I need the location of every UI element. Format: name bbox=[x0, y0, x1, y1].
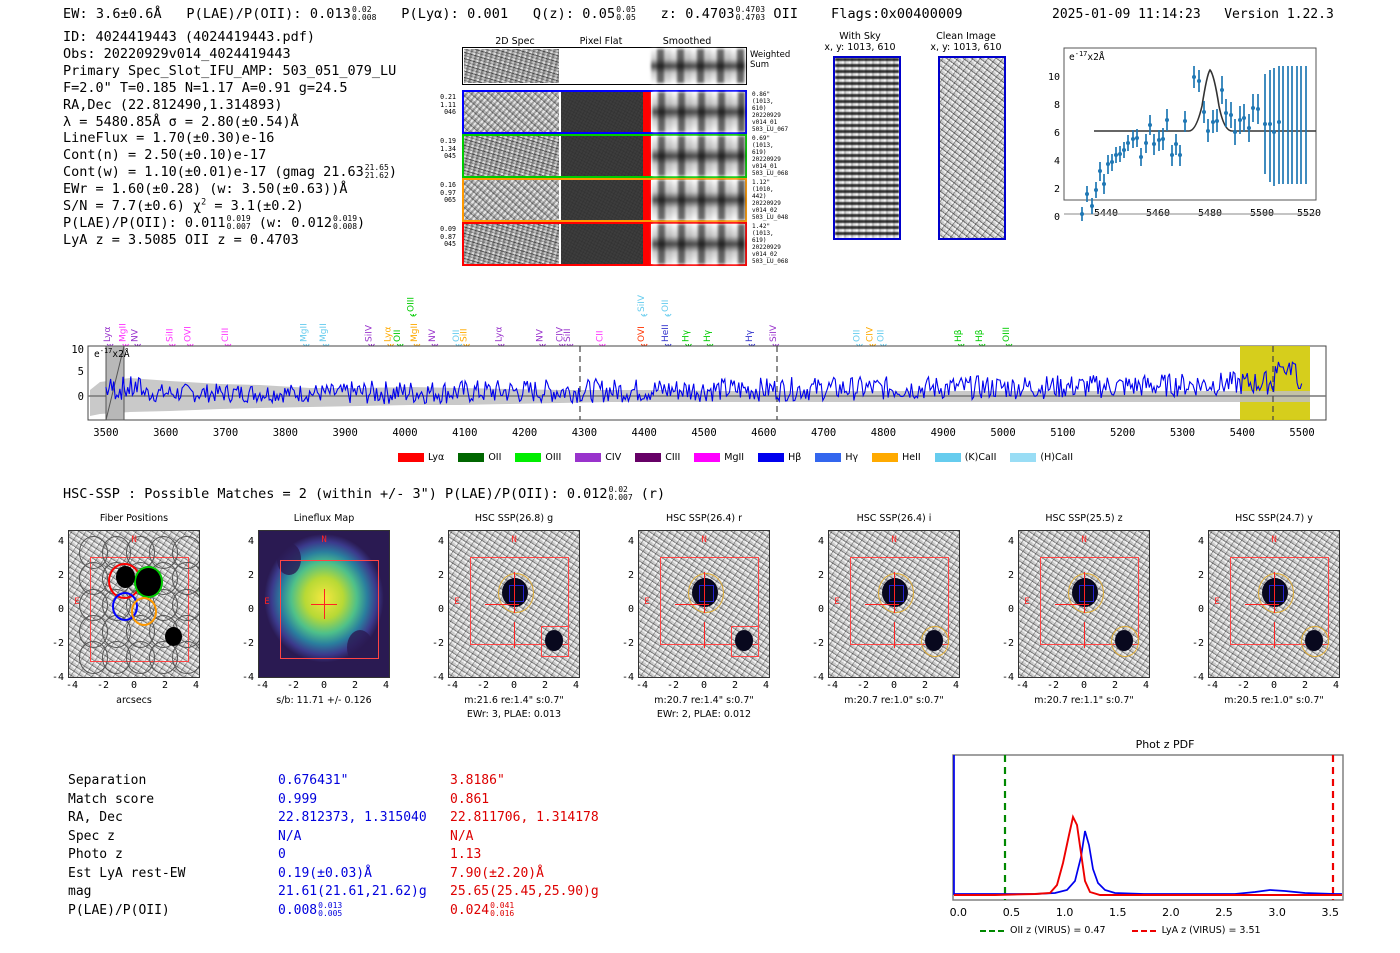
legend-label: CIII bbox=[665, 452, 680, 463]
table-row bbox=[462, 134, 747, 178]
clean-image-caption: Clean Image x, y: 1013, 610 bbox=[916, 31, 1016, 53]
cutout-xtick: 2 bbox=[1105, 680, 1125, 691]
emission-line-label: Hγ bbox=[703, 329, 713, 342]
spectrum-xtick: 5100 bbox=[1050, 427, 1075, 439]
cutout-xtick: -4 bbox=[1012, 680, 1032, 691]
legend-label: HeII bbox=[902, 452, 921, 463]
fiber-2dspec-4 bbox=[464, 224, 559, 264]
emission-line-bracket bbox=[665, 314, 671, 316]
with-sky-caption: With Sky x, y: 1013, 610 bbox=[812, 31, 908, 53]
legend-label: (K)CaII bbox=[965, 452, 997, 463]
cutout-caption2: EWr: 2, PLAE: 0.012 bbox=[608, 709, 800, 720]
photz-legend: OII z (VIRUS) = 0.47LyA z (VIRUS) = 3.51 bbox=[980, 925, 1261, 936]
spectrum-annotation: e-17x2Å bbox=[94, 347, 130, 360]
table-row: Photo z01.13 bbox=[68, 846, 708, 865]
header-qz-lo: 0.05 bbox=[616, 14, 636, 22]
photz-pdf-panel: Phot z PDF 0.00.51.01.52.02.53.03.5 OII … bbox=[935, 735, 1390, 947]
info-cont-w-text: Cont(w) = 1.10(±0.01)e-17 (gmag 21.63 bbox=[63, 164, 364, 180]
legend-label: OIII bbox=[545, 452, 561, 463]
full-spectrum-panel: LyαMgIINVSiIIOVICIIIMgIIMgIISiIVLyαOIIOI… bbox=[60, 278, 1340, 448]
emission-line-label: OVI bbox=[637, 326, 647, 342]
header-flags: Flags:0x00400009 bbox=[831, 6, 963, 22]
clean-image-coords: x, y: 1013, 610 bbox=[916, 42, 1016, 53]
weighted-sum-smoothed bbox=[651, 49, 745, 83]
legend-item: CIII bbox=[635, 452, 680, 463]
emission-line-label: Hβ bbox=[975, 329, 985, 342]
match-row-label: Separation bbox=[68, 772, 146, 791]
cutout-xtick: -2 bbox=[1233, 680, 1253, 691]
fiber-circle bbox=[172, 641, 200, 674]
photz-xtick: 0.0 bbox=[950, 906, 968, 919]
cutout-title: HSC SSP(26.8) g bbox=[430, 513, 598, 524]
cutout-xtick: -2 bbox=[663, 680, 683, 691]
spectrum-xtick: 4500 bbox=[691, 427, 716, 439]
cutout-caption1: m:20.7 re:1.0" s:0.7" bbox=[798, 695, 990, 706]
clean-image bbox=[938, 56, 1006, 240]
svg-text:4: 4 bbox=[1054, 156, 1060, 167]
fiber-lab-4-2: 045 bbox=[422, 241, 456, 249]
cutout-xtick: 4 bbox=[1326, 680, 1346, 691]
fiber-rlab-4-3: v014_02 bbox=[752, 251, 788, 258]
header-qz-label: Q(z): bbox=[533, 6, 574, 22]
cutout-ytick: 0 bbox=[426, 604, 444, 615]
header-z-label: z: bbox=[661, 6, 677, 22]
match-row-blue: 0.999 bbox=[278, 791, 317, 810]
svg-text:0: 0 bbox=[78, 391, 84, 403]
line-fit-chart: 108 64 20 54405460 54805500 5520 e-17x2Å bbox=[1034, 44, 1324, 222]
cutout-xtick: 0 bbox=[1074, 680, 1094, 691]
fiber-lab-2-2: 045 bbox=[422, 153, 456, 161]
cutout-xtick: 2 bbox=[915, 680, 935, 691]
legend-item: OIII bbox=[515, 452, 561, 463]
table-row: P(LAE)/P(OII)0.0080.0130.0050.0240.0410.… bbox=[68, 902, 708, 921]
emission-line-label: Hγ bbox=[745, 329, 755, 342]
legend-item: MgII bbox=[694, 452, 744, 463]
legend-item: HeII bbox=[872, 452, 921, 463]
legend-label: OII bbox=[488, 452, 501, 463]
cutout-ytick: 0 bbox=[806, 604, 824, 615]
photz-legend-label: OII z (VIRUS) = 0.47 bbox=[1010, 925, 1106, 936]
match-row-label: RA, Dec bbox=[68, 809, 123, 828]
table-row: RA, Dec22.812373, 1.31504022.811706, 1.3… bbox=[68, 809, 708, 828]
match-plae-red-val: 0.024 bbox=[450, 903, 489, 918]
cutout-image[interactable]: NE bbox=[1018, 530, 1150, 678]
east-marker: E bbox=[834, 597, 839, 607]
cutout-xtick: -2 bbox=[1043, 680, 1063, 691]
weighted-sum-line1: Weighted bbox=[750, 50, 790, 60]
fiber-rlab-4-1: (1013, 619) bbox=[752, 230, 788, 244]
cutout-ytick: -2 bbox=[1186, 638, 1204, 649]
cutout-xtick: -4 bbox=[1202, 680, 1222, 691]
fiber-rlab-4-4: 503_LU_068 bbox=[752, 258, 788, 265]
spectrum-xtick: 4800 bbox=[871, 427, 896, 439]
spectrum-xtick: 4000 bbox=[392, 427, 417, 439]
photz-legend-label: LyA z (VIRUS) = 3.51 bbox=[1162, 925, 1261, 936]
north-marker: N bbox=[321, 535, 326, 545]
header-z-species: OII bbox=[773, 6, 798, 22]
emission-line-label: SiII bbox=[460, 328, 470, 342]
match-row-blue: 0.19(±0.03)Å bbox=[278, 865, 372, 884]
cutout-ytick: 0 bbox=[46, 604, 64, 615]
cutout-ytick: 2 bbox=[806, 570, 824, 581]
table-row: Spec zN/AN/A bbox=[68, 828, 708, 847]
cutout-xtick: -2 bbox=[93, 680, 113, 691]
cutout-xtick: -4 bbox=[822, 680, 842, 691]
legend-swatch bbox=[694, 453, 720, 462]
table-row bbox=[462, 90, 747, 134]
legend-swatch bbox=[635, 453, 661, 462]
cutout-image[interactable]: NE bbox=[638, 530, 770, 678]
svg-text:5: 5 bbox=[78, 366, 84, 378]
photz-xtick: 3.0 bbox=[1268, 906, 1286, 919]
emission-line-label: SiIV bbox=[364, 324, 374, 342]
cutout-xtick: 2 bbox=[535, 680, 555, 691]
info-id: ID: 4024419443 (4024419443.pdf) bbox=[63, 29, 397, 46]
with-sky-coords: x, y: 1013, 610 bbox=[812, 42, 908, 53]
match-row-red: 0.861 bbox=[450, 791, 489, 810]
cutout-ytick: 4 bbox=[46, 536, 64, 547]
fiber-rlab-3-4: 503_LU_048 bbox=[752, 214, 788, 221]
cutout-ytick: 2 bbox=[1186, 570, 1204, 581]
fiber-rlab-1-3: v014_01 bbox=[752, 119, 788, 126]
cutout-xtick: 4 bbox=[376, 680, 396, 691]
spectrum-xtick: 5400 bbox=[1230, 427, 1255, 439]
cutout-caption1: arcsecs bbox=[38, 695, 230, 706]
cutout-ytick: -2 bbox=[46, 638, 64, 649]
cutout-xtick: 4 bbox=[186, 680, 206, 691]
east-marker: E bbox=[1214, 597, 1219, 607]
legend-swatch bbox=[935, 453, 961, 462]
info-cont-w-lo: 21.62 bbox=[365, 172, 389, 180]
east-marker: E bbox=[74, 597, 79, 607]
match-row-red: 22.811706, 1.314178 bbox=[450, 809, 599, 828]
fiber-2dspec-1 bbox=[464, 92, 559, 132]
emission-line-bracket bbox=[410, 314, 416, 316]
hsc-header-text: HSC-SSP : Possible Matches = 2 (within +… bbox=[63, 486, 608, 502]
photz-legend-dash bbox=[1132, 930, 1156, 932]
emission-line-label: CIV bbox=[866, 326, 876, 342]
cutout-title: HSC SSP(25.5) z bbox=[1000, 513, 1168, 524]
cutout-title: HSC SSP(26.4) r bbox=[620, 513, 788, 524]
legend-label: MgII bbox=[724, 452, 744, 463]
legend-swatch bbox=[458, 453, 484, 462]
legend-swatch bbox=[575, 453, 601, 462]
photz-xtick: 0.5 bbox=[1003, 906, 1021, 919]
cutout-ytick: 2 bbox=[236, 570, 254, 581]
fiber-right-labels-2: 0.69" (1013, 619) 20220929 v014_01 503_L… bbox=[752, 135, 788, 177]
cutout-image[interactable]: NE bbox=[448, 530, 580, 678]
cutout-caption1: m:20.7 re:1.4" s:0.7" bbox=[608, 695, 800, 706]
legend-label: (H)CaII bbox=[1040, 452, 1073, 463]
cutout-image[interactable]: NE bbox=[258, 530, 390, 678]
info-plae-mid: (w: 0.012 bbox=[259, 215, 332, 231]
fiber-rlab-1-1: (1013, 610) bbox=[752, 98, 788, 112]
header-summary: EW: 3.6±0.6Å P(LAE)/P(OII): 0.0130.020.0… bbox=[63, 6, 963, 22]
info-redshifts: LyA z = 3.5085 OII z = 0.4703 bbox=[63, 232, 397, 249]
info-plae-pre: P(LAE)/P(OII): 0.011 bbox=[63, 215, 226, 231]
legend-swatch bbox=[815, 453, 841, 462]
emission-line-label: MgII bbox=[319, 323, 329, 342]
fiber-smoothed-4 bbox=[652, 224, 745, 264]
emission-line-label: HeII bbox=[661, 324, 671, 342]
info-sn-pre: S/N = 7.7(±0.6) χ bbox=[63, 198, 201, 214]
info-params: F=2.0" T=0.185 N=1.17 A=0.91 g=24.5 bbox=[63, 80, 397, 97]
clean-image-title: Clean Image bbox=[916, 31, 1016, 42]
timestamp-version: 2025-01-09 11:14:23 Version 1.22.3 bbox=[1052, 7, 1334, 22]
cutout-xtick: 0 bbox=[504, 680, 524, 691]
fiber-rlab-2-4: 503_LU_068 bbox=[752, 170, 788, 177]
north-marker: N bbox=[701, 535, 706, 545]
match-plae-red-lo: 0.016 bbox=[490, 910, 514, 918]
cutout-xtick: -4 bbox=[252, 680, 272, 691]
cutout-title: Fiber Positions bbox=[50, 513, 218, 524]
header-plae-value: 0.013 bbox=[310, 6, 351, 22]
info-lambda: λ = 5480.85Å σ = 2.80(±0.54)Å bbox=[63, 114, 397, 131]
fiber-rlab-1-2: 20220929 bbox=[752, 112, 788, 119]
cutout-image[interactable]: NE bbox=[68, 530, 200, 678]
fiber-left-labels-1: 0.21 1.11 046 bbox=[422, 94, 456, 117]
info-plae: P(LAE)/P(OII): 0.0110.0190.007 (w: 0.012… bbox=[63, 215, 397, 232]
fiber-2dspec-3 bbox=[464, 180, 559, 220]
cutout-xtick: -4 bbox=[442, 680, 462, 691]
fiber-rlab-2-1: (1013, 619) bbox=[752, 142, 788, 156]
spectrum-yticks: 1050 bbox=[71, 344, 84, 403]
fiber-marker-3 bbox=[643, 180, 651, 220]
emission-line-label: OIII bbox=[1002, 327, 1012, 342]
fiber-rlab-3-1: (1010, 442) bbox=[752, 186, 788, 200]
spectrum-xtick: 3900 bbox=[333, 427, 358, 439]
spec2d-title-2dspec: 2D Spec bbox=[480, 36, 550, 47]
cutout-ytick: 2 bbox=[426, 570, 444, 581]
fiber-pixelflat-2 bbox=[561, 136, 643, 176]
svg-text:8: 8 bbox=[1054, 100, 1060, 111]
emission-line-label: SiII bbox=[563, 328, 573, 342]
match-row-label: Spec z bbox=[68, 828, 115, 847]
timestamp: 2025-01-09 11:14:23 bbox=[1052, 7, 1201, 22]
fiber-lab-3-2: 065 bbox=[422, 197, 456, 205]
fiber-right-labels-4: 1.42" (1013, 619) 20220929 v014_02 503_L… bbox=[752, 223, 788, 265]
fiber-pixelflat-3 bbox=[561, 180, 643, 220]
cutout-ytick: 0 bbox=[996, 604, 1014, 615]
fiber-smoothed-2 bbox=[652, 136, 745, 176]
cutout-image[interactable]: NE bbox=[1208, 530, 1340, 678]
cutout-xtick: -2 bbox=[283, 680, 303, 691]
spectrum-xtick: 3500 bbox=[93, 427, 118, 439]
cutout-xtick: 0 bbox=[124, 680, 144, 691]
cutout-ytick: 2 bbox=[616, 570, 634, 581]
photz-xtick: 2.0 bbox=[1162, 906, 1180, 919]
info-radec: RA,Dec (22.812490,1.314893) bbox=[63, 97, 397, 114]
cutout-caption1: m:21.6 re:1.4" s:0.7" bbox=[418, 695, 610, 706]
cutout-xtick: 4 bbox=[1136, 680, 1156, 691]
fiber-smoothed-3 bbox=[652, 180, 745, 220]
spectrum-xtick: 3600 bbox=[153, 427, 178, 439]
header-qz-value: 0.05 bbox=[582, 6, 615, 22]
spectrum-xtick: 4200 bbox=[512, 427, 537, 439]
weighted-sum-pixelflat bbox=[560, 49, 648, 83]
legend-item: Hβ bbox=[758, 452, 801, 463]
fiber-pixelflat-4 bbox=[561, 224, 643, 264]
info-plae-lo: 0.007 bbox=[227, 223, 251, 231]
photz-xtick: 2.5 bbox=[1215, 906, 1233, 919]
fiber-left-labels-3: 0.16 0.97 065 bbox=[422, 182, 456, 205]
cutout-ytick: 0 bbox=[1186, 604, 1204, 615]
emission-line-label: OII bbox=[393, 330, 403, 342]
target-info-block: ID: 4024419443 (4024419443.pdf) Obs: 202… bbox=[63, 29, 397, 249]
hsc-header: HSC-SSP : Possible Matches = 2 (within +… bbox=[63, 486, 665, 502]
cutout-ytick: -2 bbox=[426, 638, 444, 649]
fiber-marker-4 bbox=[643, 224, 651, 264]
weighted-sum-strip bbox=[462, 47, 747, 85]
photz-legend-item: OII z (VIRUS) = 0.47 bbox=[980, 925, 1106, 936]
fiber-left-labels-4: 0.09 0.87 045 bbox=[422, 226, 456, 249]
info-sn-post: = 3.1(±0.2) bbox=[206, 198, 304, 214]
spectrum-xtick: 4100 bbox=[452, 427, 477, 439]
header-z-value: 0.4703 bbox=[685, 6, 734, 22]
legend-item: (H)CaII bbox=[1010, 452, 1073, 463]
emission-line-label: CII bbox=[595, 330, 605, 342]
legend-item: (K)CaII bbox=[935, 452, 997, 463]
match-plae-blue-val: 0.008 bbox=[278, 903, 317, 918]
fiber-smoothed-1 bbox=[652, 92, 745, 132]
match-row-label: Est LyA rest-EW bbox=[68, 865, 185, 884]
cutout-ytick: -2 bbox=[236, 638, 254, 649]
cutout-xtick: -4 bbox=[632, 680, 652, 691]
cutout-xtick: 0 bbox=[314, 680, 334, 691]
cutout-ytick: 4 bbox=[996, 536, 1014, 547]
spectrum-xtick: 3700 bbox=[213, 427, 238, 439]
cutout-xtick: 0 bbox=[1264, 680, 1284, 691]
cutout-caption1: m:20.5 re:1.0" s:0.7" bbox=[1178, 695, 1370, 706]
header-plae-label: P(LAE)/P(OII): bbox=[186, 6, 301, 22]
table-row: Separation0.676431"3.8186" bbox=[68, 772, 708, 791]
match-row-blue: N/A bbox=[278, 828, 301, 847]
cutout-ytick: 4 bbox=[806, 536, 824, 547]
cutout-xtick: 0 bbox=[884, 680, 904, 691]
photz-title: Phot z PDF bbox=[1136, 738, 1195, 751]
fiber-rlab-2-3: v014_01 bbox=[752, 163, 788, 170]
fiber-rlab-2-2: 20220929 bbox=[752, 156, 788, 163]
legend-label: CIV bbox=[605, 452, 621, 463]
table-row: Est LyA rest-EW0.19(±0.03)Å7.90(±2.20)Å bbox=[68, 865, 708, 884]
fiber-highlight-green bbox=[134, 566, 163, 598]
cutout-xtick: 4 bbox=[756, 680, 776, 691]
info-cont-w: Cont(w) = 1.10(±0.01)e-17 (gmag 21.6321.… bbox=[63, 164, 397, 181]
match-row-blue: 0 bbox=[278, 846, 286, 865]
cutout-xtick: 2 bbox=[155, 680, 175, 691]
north-marker: N bbox=[511, 535, 516, 545]
match-row-blue: 22.812373, 1.315040 bbox=[278, 809, 427, 828]
table-row: mag21.61(21.61,21.62)g25.65(25.45,25.90)… bbox=[68, 883, 708, 902]
fiber-pixelflat-1 bbox=[561, 92, 643, 132]
cutout-title: HSC SSP(26.4) i bbox=[810, 513, 978, 524]
cutout-panels: Fiber PositionsNE420-2-4-4-2024arcsecsLi… bbox=[40, 513, 1390, 728]
header-ew: EW: 3.6±0.6Å bbox=[63, 6, 162, 22]
fiber-right-labels-1: 0.86" (1013, 610) 20220929 v014_01 503_L… bbox=[752, 91, 788, 133]
emission-line-label: SiIV bbox=[637, 294, 647, 312]
cutout-xtick: 4 bbox=[946, 680, 966, 691]
spectrum-xtick: 4300 bbox=[572, 427, 597, 439]
fiber-lab-1-2: 046 bbox=[422, 109, 456, 117]
emission-line-label: Lyα bbox=[494, 326, 504, 342]
info-cont-n: Cont(n) = 2.50(±0.10)e-17 bbox=[63, 147, 397, 164]
line-fit-annotation: e-17x2Å bbox=[1069, 50, 1105, 63]
cutout-ytick: 0 bbox=[236, 604, 254, 615]
east-marker: E bbox=[1024, 597, 1029, 607]
svg-text:10: 10 bbox=[1048, 72, 1060, 83]
info-lineflux: LineFlux = 1.70(±0.30)e-16 bbox=[63, 130, 397, 147]
east-marker: E bbox=[454, 597, 459, 607]
header-z-lo: 0.4703 bbox=[736, 14, 766, 22]
match-row-red: 1.13 bbox=[450, 846, 481, 865]
fiber-rlab-3-0: 1.12" bbox=[752, 179, 788, 186]
hsc-header-post: (r) bbox=[641, 486, 665, 502]
emission-line-label: NV bbox=[131, 328, 141, 342]
photz-legend-dash bbox=[980, 930, 1004, 932]
info-slot: Primary Spec_Slot_IFU_AMP: 503_051_079_L… bbox=[63, 63, 397, 80]
emission-line-label: OVI bbox=[183, 326, 193, 342]
cutout-xtick: 4 bbox=[566, 680, 586, 691]
photz-legend-item: LyA z (VIRUS) = 3.51 bbox=[1132, 925, 1261, 936]
legend-swatch bbox=[398, 453, 424, 462]
emission-line-label: NV bbox=[536, 328, 546, 342]
cutout-caption1: s/b: 11.71 +/- 0.126 bbox=[228, 695, 420, 706]
match-plae-red: 0.0240.0410.016 bbox=[450, 902, 514, 921]
version: Version 1.22.3 bbox=[1224, 7, 1334, 22]
match-row-label: Photo z bbox=[68, 846, 123, 865]
fiber-marker-1 bbox=[643, 92, 651, 132]
fiber-rlab-2-0: 0.69" bbox=[752, 135, 788, 142]
east-marker: E bbox=[264, 597, 269, 607]
cutout-xtick: -4 bbox=[62, 680, 82, 691]
fiber-rlab-4-2: 20220929 bbox=[752, 244, 788, 251]
match-table: Separation0.676431"3.8186"Match score0.9… bbox=[68, 772, 708, 920]
match-row-label: Match score bbox=[68, 791, 154, 810]
fiber-rlab-4-0: 1.42" bbox=[752, 223, 788, 230]
emission-line-label: OII bbox=[876, 330, 886, 342]
legend-swatch bbox=[758, 453, 784, 462]
hsc-header-lo: 0.007 bbox=[609, 494, 633, 502]
spectrum-xtick: 4900 bbox=[931, 427, 956, 439]
match-row-red: 3.8186" bbox=[450, 772, 505, 791]
fiber-highlight-orange bbox=[131, 597, 157, 626]
cutout-ytick: -2 bbox=[996, 638, 1014, 649]
north-marker: N bbox=[891, 535, 896, 545]
emission-line-label: OII bbox=[853, 330, 863, 342]
emission-line-label: SiII bbox=[165, 328, 175, 342]
photz-xtick: 3.5 bbox=[1321, 906, 1339, 919]
line-fit-yticks: 108 64 20 bbox=[1048, 72, 1060, 222]
match-row-red: 25.65(25.45,25.90)g bbox=[450, 883, 599, 902]
north-marker: N bbox=[131, 535, 136, 545]
fiber-rlab-3-2: 20220929 bbox=[752, 200, 788, 207]
header-plya: P(Lyα): 0.001 bbox=[401, 6, 508, 22]
cutout-title: Lineflux Map bbox=[240, 513, 408, 524]
spectrum-xtick: 4600 bbox=[751, 427, 776, 439]
cutout-caption1: m:20.7 re:1.1" s:0.7" bbox=[988, 695, 1180, 706]
info-ewr: EWr = 1.60(±0.28) (w: 3.50(±0.63))Å bbox=[63, 181, 397, 198]
photz-xticks: 0.00.51.01.52.02.53.03.5 bbox=[950, 906, 1339, 919]
photz-xtick: 1.0 bbox=[1056, 906, 1074, 919]
spectrum-xtick: 5200 bbox=[1110, 427, 1135, 439]
legend-label: Hγ bbox=[845, 452, 858, 463]
cutout-image[interactable]: NE bbox=[828, 530, 960, 678]
match-row-red: 7.90(±2.20)Å bbox=[450, 865, 544, 884]
emission-line-label: MgII bbox=[119, 323, 129, 342]
fiber-right-labels-3: 1.12" (1010, 442) 20220929 v014_02 503_L… bbox=[752, 179, 788, 221]
fiber-left-labels-2: 0.19 1.34 045 bbox=[422, 138, 456, 161]
cutout-caption2: EWr: 3, PLAE: 0.013 bbox=[418, 709, 610, 720]
